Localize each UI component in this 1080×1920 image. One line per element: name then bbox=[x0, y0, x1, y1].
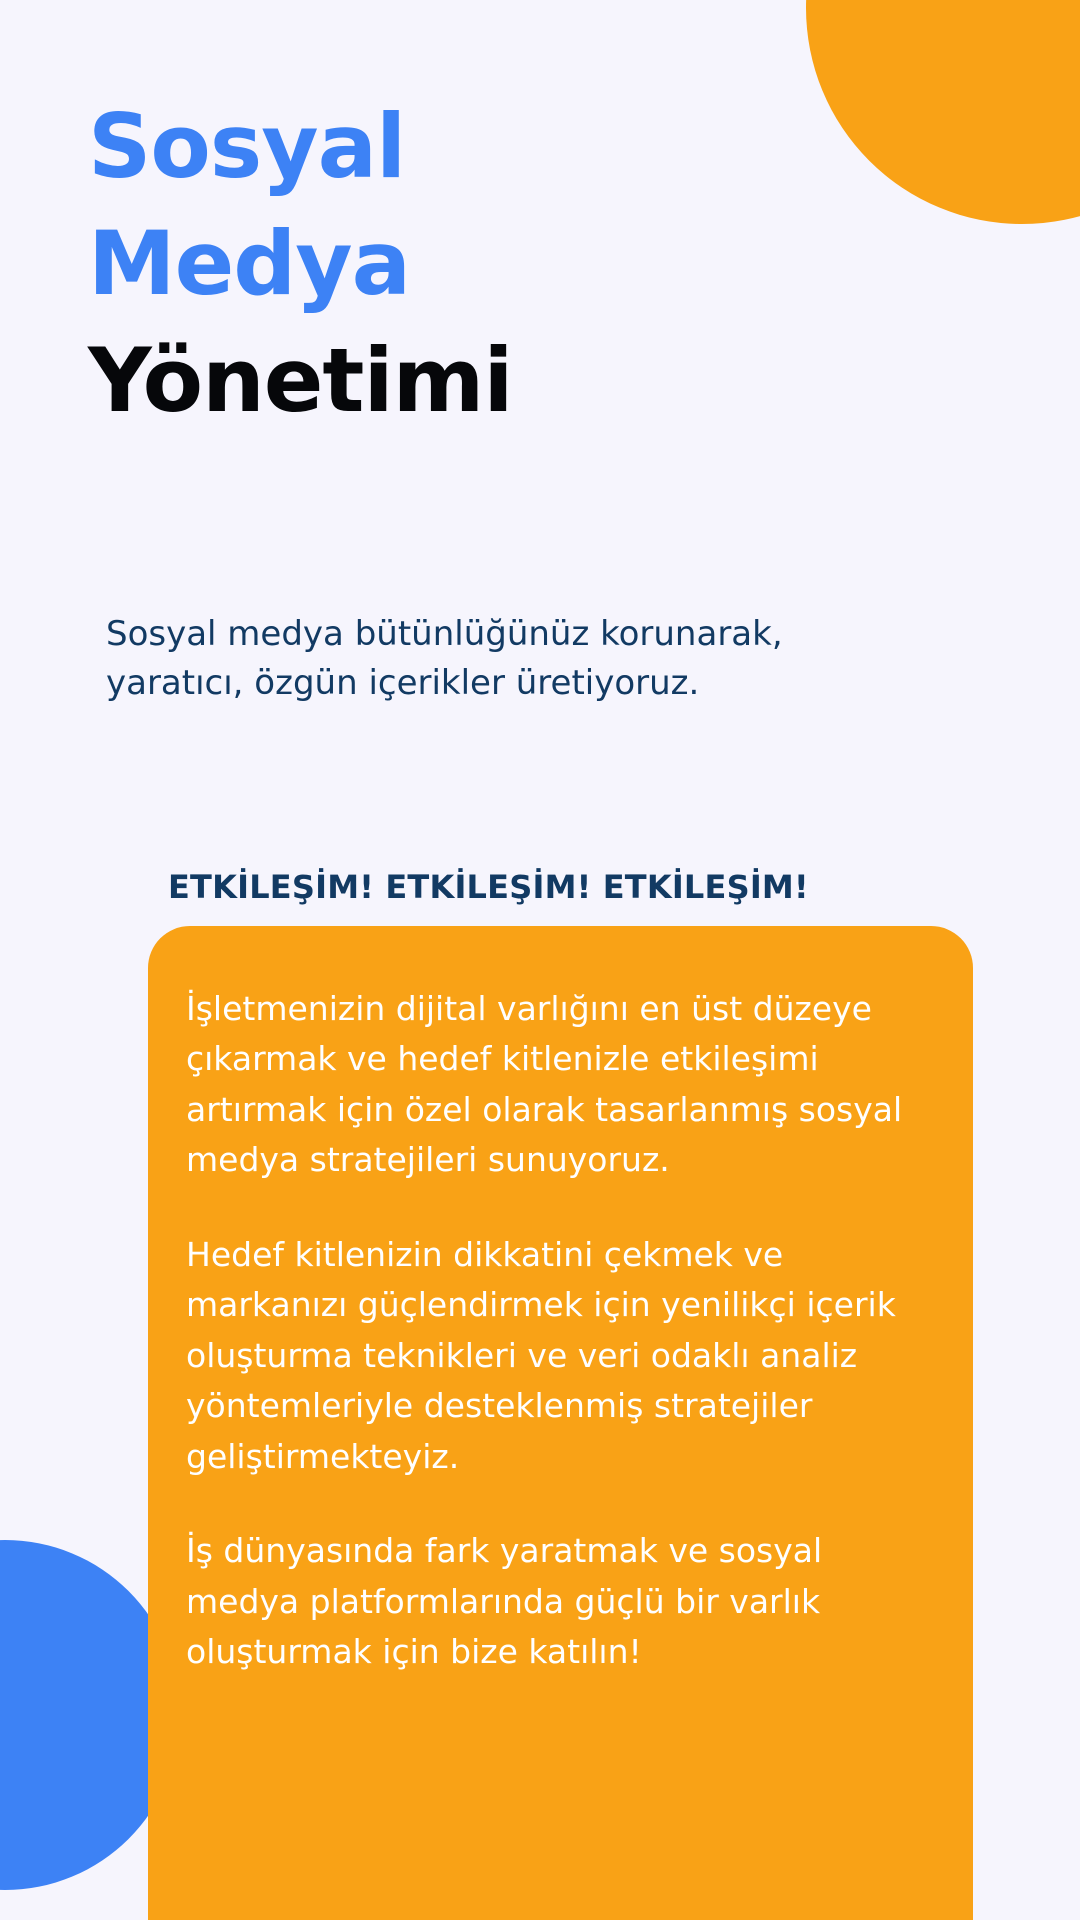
card-paragraph-3: İş dünyasında fark yaratmak ve sosyal me… bbox=[186, 1526, 913, 1677]
decorative-orange-circle bbox=[806, 0, 1080, 224]
poster-canvas: Sosyal Medya Yönetimi Sosyal medya bütün… bbox=[0, 0, 1080, 1920]
page-title: Sosyal Medya Yönetimi bbox=[88, 88, 513, 439]
title-line-1: Sosyal bbox=[88, 88, 513, 205]
kicker-heading: ETKİLEŞİM! ETKİLEŞİM! ETKİLEŞİM! bbox=[168, 868, 809, 906]
card-paragraph-1: İşletmenizin dijital varlığını en üst dü… bbox=[186, 984, 913, 1186]
card-paragraph-2: Hedef kitlenizin dikkatini çekmek ve mar… bbox=[186, 1230, 913, 1482]
title-line-3: Yönetimi bbox=[88, 322, 513, 439]
highlight-card: İşletmenizin dijital varlığını en üst dü… bbox=[148, 926, 973, 1920]
title-line-2: Medya bbox=[88, 205, 513, 322]
subtitle-text: Sosyal medya bütünlüğünüz korunarak, yar… bbox=[106, 610, 866, 709]
